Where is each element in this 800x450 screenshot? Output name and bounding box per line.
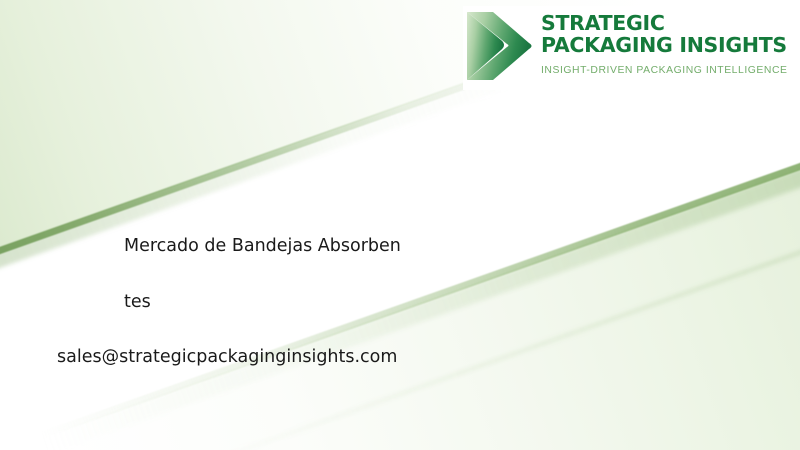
page-title-line-1: Mercado de Bandejas Absorben — [124, 218, 544, 274]
logo-wordmark: STRATEGIC PACKAGING INSIGHTS INSIGHT-DRI… — [541, 6, 787, 77]
chevron-arrow-icon — [463, 6, 535, 86]
page-title-line-2: tes — [124, 274, 544, 330]
logo-name-line-1: STRATEGIC — [541, 12, 787, 34]
company-logo: STRATEGIC PACKAGING INSIGHTS INSIGHT-DRI… — [463, 6, 795, 90]
contact-email[interactable]: sales@strategicpackaginginsights.com — [57, 345, 397, 369]
cover-slide: STRATEGIC PACKAGING INSIGHTS INSIGHT-DRI… — [0, 0, 800, 450]
page-title: Mercado de Bandejas Absorben tes — [124, 218, 544, 330]
logo-name-line-2: PACKAGING INSIGHTS — [541, 34, 787, 56]
logo-tagline: INSIGHT-DRIVEN PACKAGING INTELLIGENCE — [541, 65, 787, 77]
